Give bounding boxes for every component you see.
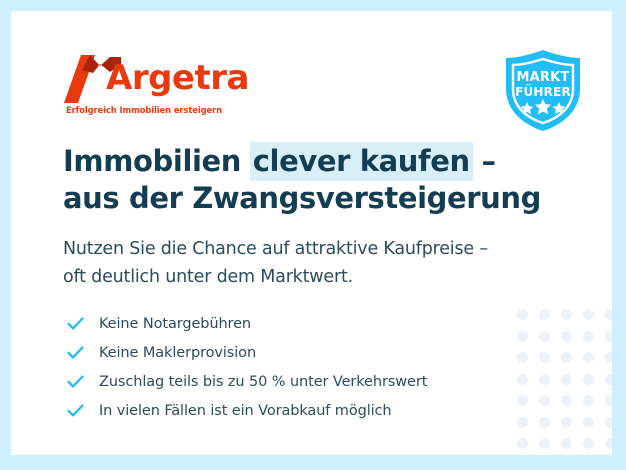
decorative-dot xyxy=(561,331,572,342)
subheadline-line-1: Nutzen Sie die Chance auf attraktive Kau… xyxy=(63,235,488,263)
headline-highlight: clever kaufen xyxy=(250,142,473,181)
decorative-dot xyxy=(583,395,594,406)
decorative-dot xyxy=(605,352,612,363)
decorative-dot xyxy=(561,438,572,449)
check-icon xyxy=(66,372,85,391)
headline-line-2: aus der Zwangsversteigerung xyxy=(63,180,541,217)
market-leader-badge: MARKT FÜHRER xyxy=(500,47,586,133)
decorative-dot xyxy=(583,331,594,342)
check-icon xyxy=(66,314,85,333)
benefits-list: Keine NotargebührenKeine Maklerprovision… xyxy=(66,309,546,425)
decorative-dot xyxy=(605,417,612,428)
decorative-dot xyxy=(583,374,594,385)
benefit-label: In vielen Fällen ist ein Vorabkauf mögli… xyxy=(99,403,392,419)
decorative-dot xyxy=(517,438,528,449)
benefit-item: In vielen Fällen ist ein Vorabkauf mögli… xyxy=(66,396,546,425)
decorative-dot xyxy=(561,309,572,320)
benefit-label: Keine Notargebühren xyxy=(99,316,251,332)
headline-line-1-after: – xyxy=(472,144,496,178)
headline: Immobilien clever kaufen – aus der Zwang… xyxy=(63,143,541,217)
decorative-dot xyxy=(605,374,612,385)
headline-line-1-before: Immobilien xyxy=(63,144,251,178)
decorative-dot xyxy=(561,417,572,428)
decorative-dot xyxy=(605,309,612,320)
argetra-tagline: Erfolgreich Immobilien ersteigern xyxy=(66,105,222,115)
benefit-item: Zuschlag teils bis zu 50 % unter Verkehr… xyxy=(66,367,546,396)
check-icon xyxy=(66,343,85,362)
decorative-dot xyxy=(605,438,612,449)
decorative-dot xyxy=(561,352,572,363)
decorative-dot xyxy=(561,374,572,385)
shield-badge-icon xyxy=(500,47,586,133)
decorative-dot xyxy=(583,352,594,363)
decorative-dot xyxy=(539,438,550,449)
benefit-label: Keine Maklerprovision xyxy=(99,345,256,361)
benefit-item: Keine Notargebühren xyxy=(66,309,546,338)
argetra-wordmark: Argetra xyxy=(106,61,249,95)
benefit-label: Zuschlag teils bis zu 50 % unter Verkehr… xyxy=(99,374,427,390)
subheadline-line-2: oft deutlich unter dem Marktwert. xyxy=(63,263,488,291)
decorative-dot xyxy=(605,395,612,406)
subheadline: Nutzen Sie die Chance auf attraktive Kau… xyxy=(63,235,488,291)
argetra-logo[interactable]: Argetra Erfolgreich Immobilien ersteiger… xyxy=(64,55,214,117)
decorative-dot xyxy=(583,309,594,320)
promo-card: Argetra Erfolgreich Immobilien ersteiger… xyxy=(11,11,612,455)
check-icon xyxy=(66,401,85,420)
decorative-dot xyxy=(605,331,612,342)
page-frame: Argetra Erfolgreich Immobilien ersteiger… xyxy=(0,0,626,470)
headline-line-1: Immobilien clever kaufen – xyxy=(63,143,541,180)
benefit-item: Keine Maklerprovision xyxy=(66,338,546,367)
decorative-dot xyxy=(583,438,594,449)
decorative-dot xyxy=(583,417,594,428)
decorative-dot xyxy=(561,395,572,406)
